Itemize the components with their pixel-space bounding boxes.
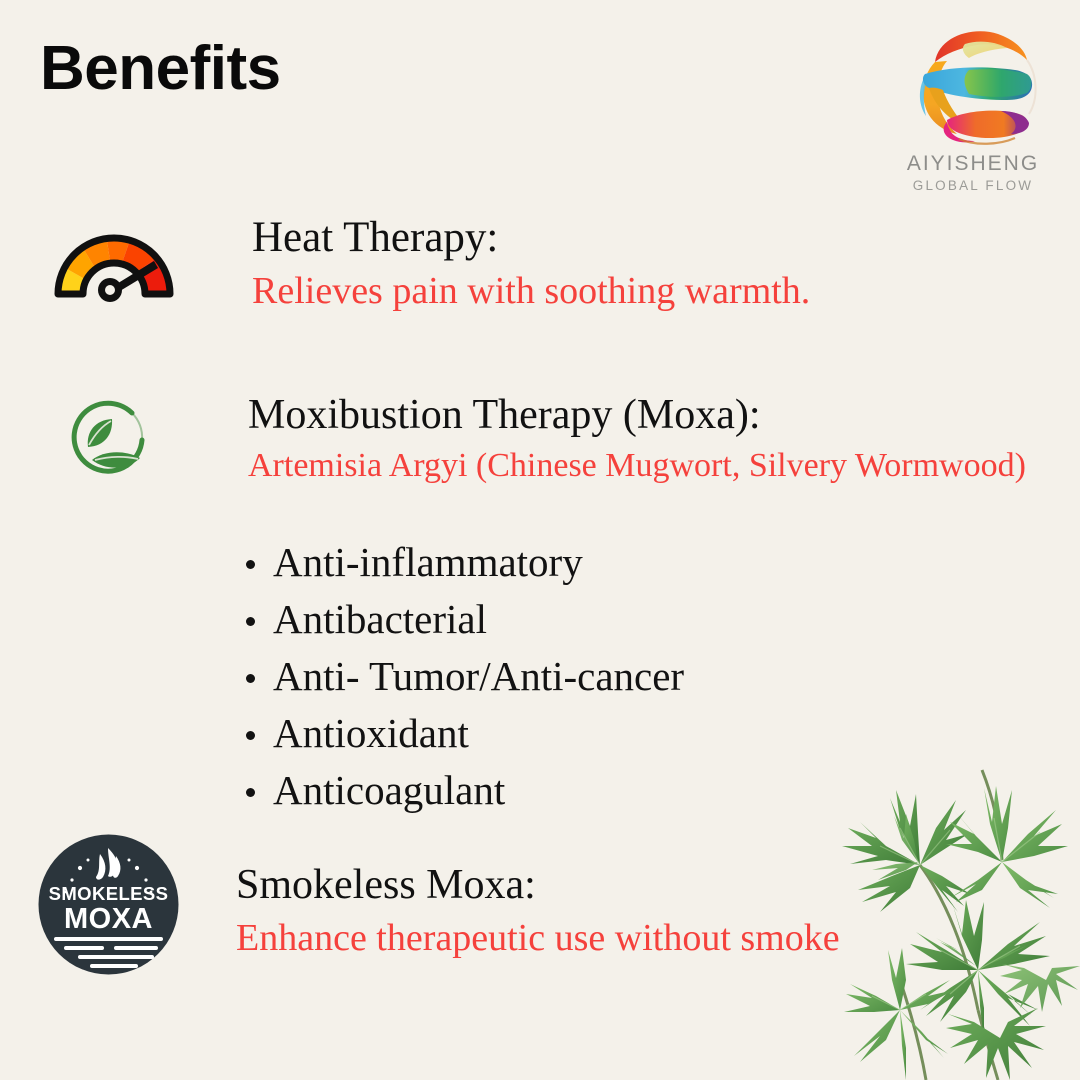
smokeless-moxa-heading: Smokeless Moxa:	[236, 862, 840, 909]
list-item: Anti- Tumor/Anti-cancer	[240, 648, 684, 705]
heat-therapy-subtext: Relieves pain with soothing warmth.	[252, 270, 810, 313]
list-item: Anti-inflammatory	[240, 534, 684, 591]
heat-gauge-icon-slot	[48, 228, 180, 309]
list-item: Anticoagulant	[240, 762, 684, 819]
heat-therapy-heading: Heat Therapy:	[252, 214, 810, 262]
logo-name: AIYISHENG	[884, 152, 1062, 176]
benefit-row-heat-therapy: Heat Therapy: Relieves pain with soothin…	[0, 214, 1080, 334]
svg-text:SMOKELESS: SMOKELESS	[49, 883, 169, 904]
list-item: Antibacterial	[240, 591, 684, 648]
poster-canvas: Benefits	[0, 0, 1080, 1080]
moxibustion-text: Moxibustion Therapy (Moxa): Artemisia Ar…	[248, 392, 1026, 485]
green-leaf-circle-icon	[68, 400, 154, 486]
leaf-circle-icon-slot	[68, 400, 154, 491]
heat-gauge-icon	[48, 228, 180, 304]
list-item: Antioxidant	[240, 705, 684, 762]
benefit-row-smokeless-moxa: SMOKELESS MOXA Smokeless Moxa: Enhance t…	[0, 862, 1080, 982]
smokeless-moxa-text: Smokeless Moxa: Enhance therapeutic use …	[236, 862, 840, 960]
logo-tagline: GLOBAL FLOW	[884, 178, 1062, 194]
page-title: Benefits	[40, 38, 281, 100]
smokeless-moxa-subtext: Enhance therapeutic use without smoke	[236, 917, 840, 960]
benefit-row-moxibustion: Moxibustion Therapy (Moxa): Artemisia Ar…	[0, 378, 1080, 508]
benefit-bullet-list: Anti-inflammatory Antibacterial Anti- Tu…	[240, 534, 684, 819]
smokeless-moxa-badge-icon: SMOKELESS MOXA	[36, 832, 181, 977]
svg-text:MOXA: MOXA	[64, 903, 153, 935]
brand-logo: AIYISHENG GLOBAL FLOW	[884, 18, 1062, 194]
smokeless-badge-slot: SMOKELESS MOXA	[36, 832, 181, 977]
moxibustion-subtext: Artemisia Argyi (Chinese Mugwort, Silver…	[248, 447, 1026, 485]
globe-swirl-icon	[903, 18, 1043, 150]
moxibustion-heading: Moxibustion Therapy (Moxa):	[248, 392, 1026, 439]
heat-therapy-text: Heat Therapy: Relieves pain with soothin…	[252, 214, 810, 313]
